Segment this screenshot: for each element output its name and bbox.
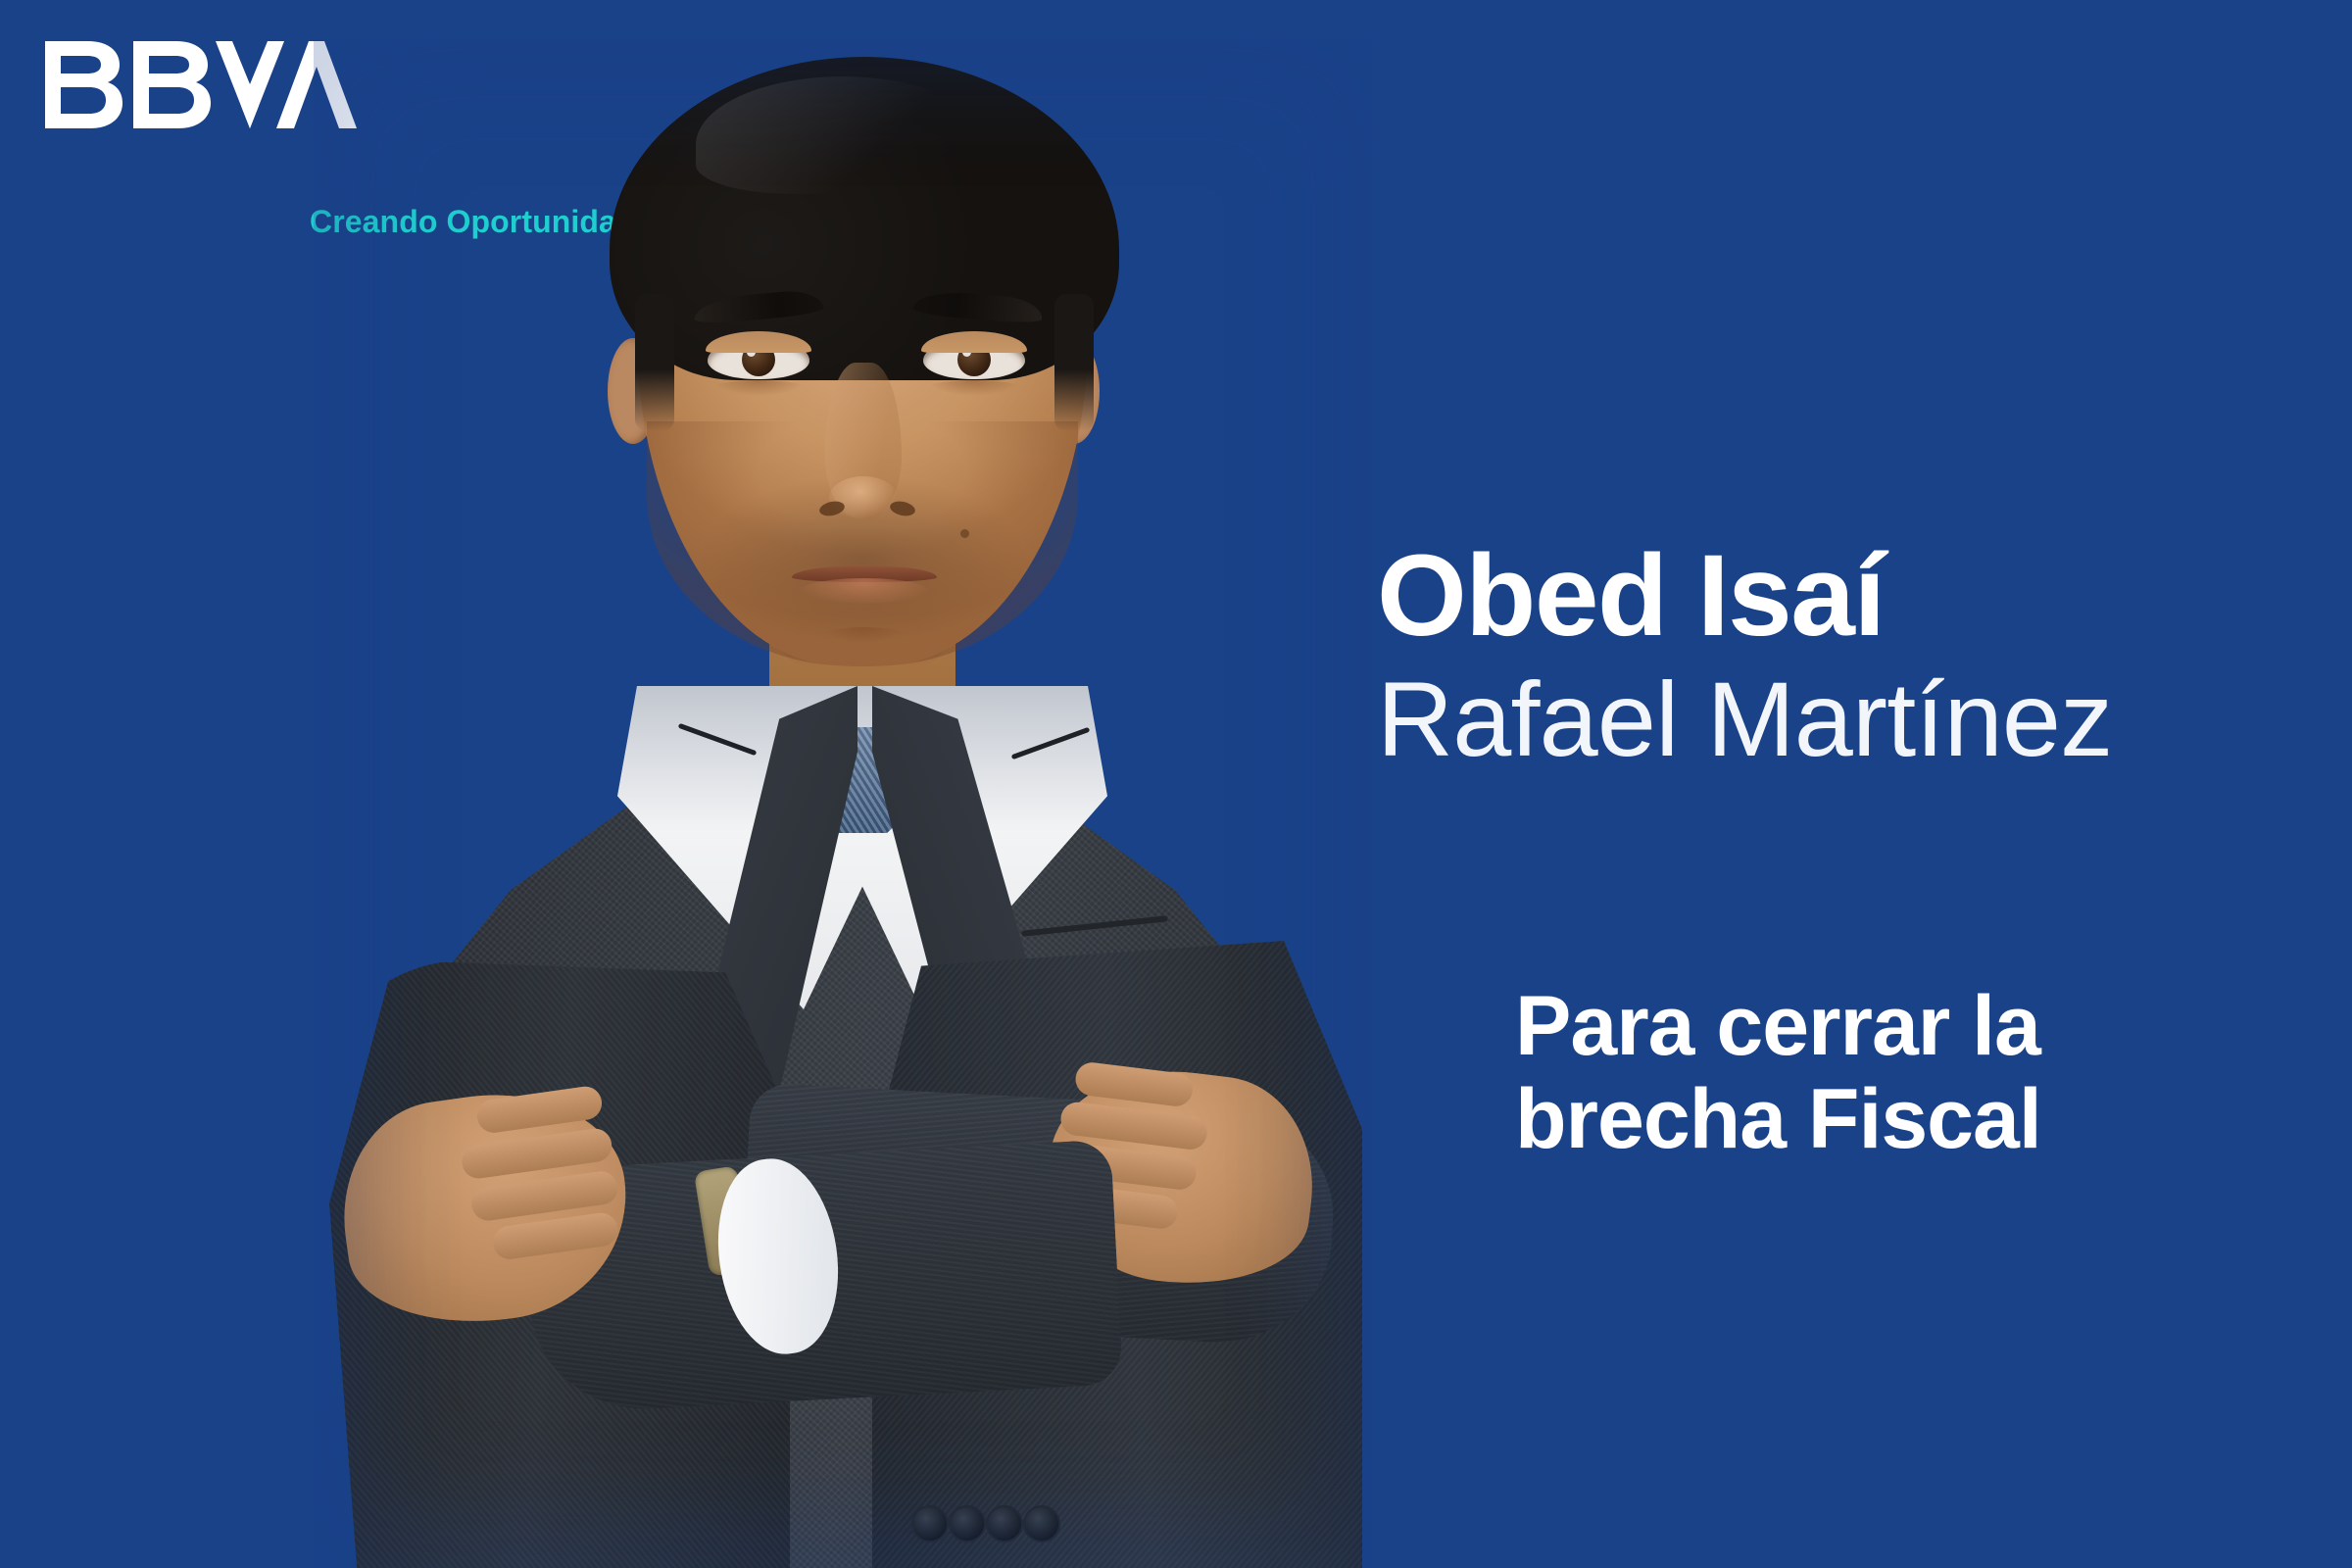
- promo-banner: Creando Oportunidades: [0, 0, 2352, 1568]
- sleeve-button: [1023, 1505, 1060, 1543]
- sideburn-right: [1054, 294, 1094, 431]
- sideburn-left: [635, 294, 674, 431]
- bbva-logo-icon: [43, 37, 357, 135]
- lower-lip: [800, 578, 929, 604]
- sleeve-button-row: [911, 1505, 1058, 1544]
- chin-crease: [823, 627, 906, 643]
- undereye-shadow-right: [927, 380, 1021, 396]
- speaker-surname: Rafael Martínez: [1377, 661, 2298, 779]
- speaker-portrait: [323, 0, 1362, 1568]
- sleeve-button: [911, 1505, 949, 1543]
- headline: Para cerrar la brecha Fiscal: [1515, 980, 2319, 1167]
- sleeve-button: [949, 1505, 986, 1543]
- finger: [491, 1211, 619, 1261]
- sleeve-button: [986, 1505, 1023, 1543]
- headline-line-1: Para cerrar la: [1515, 980, 2319, 1073]
- headline-line-2: brecha Fiscal: [1515, 1073, 2319, 1166]
- speaker-name-block: Obed Isaí Rafael Martínez: [1377, 537, 2298, 779]
- speaker-given-name: Obed Isaí: [1377, 537, 2298, 655]
- cheek-mole: [960, 529, 969, 538]
- undereye-shadow-left: [711, 380, 806, 396]
